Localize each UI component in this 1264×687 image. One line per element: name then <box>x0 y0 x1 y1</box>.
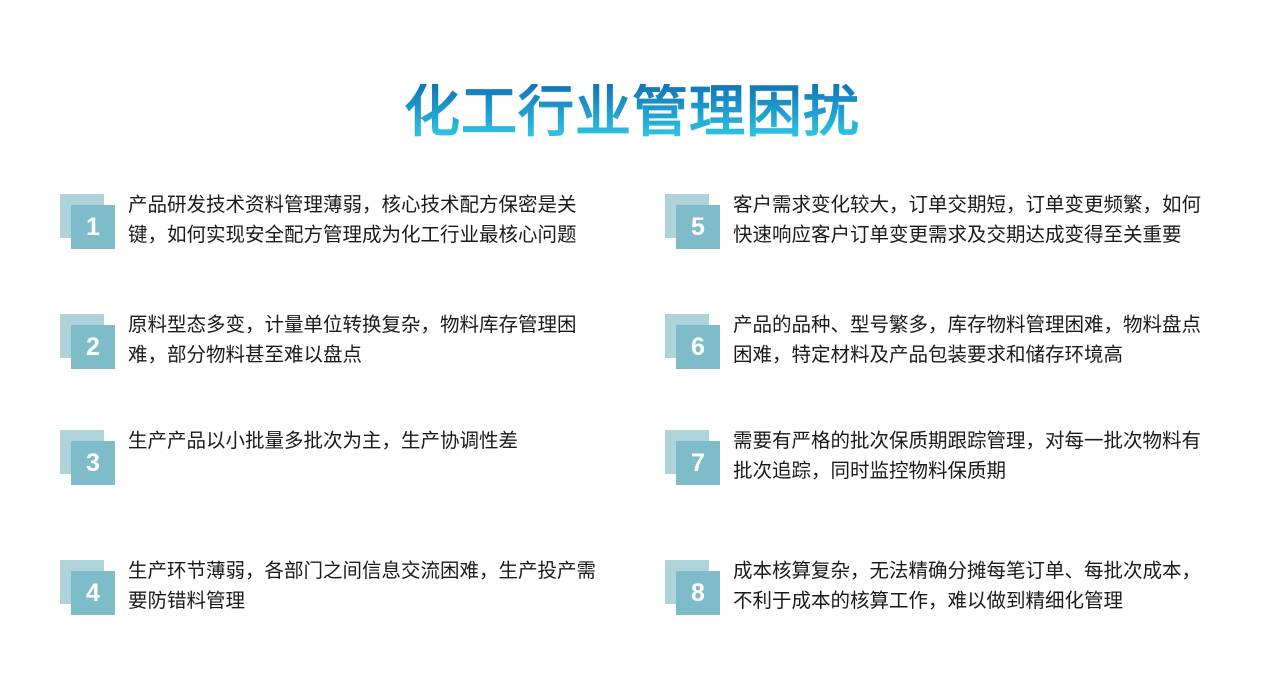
pain-points-grid: 1 产品研发技术资料管理薄弱，核心技术配方保密是关键，如何实现安全配方管理成为化… <box>0 186 1264 676</box>
badge-number: 8 <box>676 571 720 615</box>
badge-number: 3 <box>71 441 115 485</box>
pain-points-column-right: 5 客户需求变化较大，订单交期短，订单变更频繁，如何快速响应客户订单变更需求及交… <box>657 186 1217 676</box>
number-badge: 3 <box>60 430 116 486</box>
slide-canvas: 化工行业管理困扰 1 产品研发技术资料管理薄弱，核心技术配方保密是关键，如何实现… <box>0 0 1264 687</box>
list-item-text: 成本核算复杂，无法精确分摊每笔订单、每批次成本，不利于成本的核算工作，难以做到精… <box>733 556 1213 616</box>
list-item-text: 原料型态多变，计量单位转换复杂，物料库存管理困难，部分物料甚至难以盘点 <box>128 310 608 370</box>
number-badge: 5 <box>665 194 721 250</box>
number-badge: 2 <box>60 314 116 370</box>
list-item-text: 产品研发技术资料管理薄弱，核心技术配方保密是关键，如何实现安全配方管理成为化工行… <box>128 190 608 250</box>
number-badge: 7 <box>665 430 721 486</box>
badge-number: 6 <box>676 325 720 369</box>
number-badge: 8 <box>665 560 721 616</box>
badge-number: 5 <box>676 205 720 249</box>
badge-number: 4 <box>71 571 115 615</box>
badge-number: 2 <box>71 325 115 369</box>
number-badge: 6 <box>665 314 721 370</box>
list-item-text: 生产环节薄弱，各部门之间信息交流困难，生产投产需要防错料管理 <box>128 556 608 616</box>
badge-number: 7 <box>676 441 720 485</box>
list-item-text: 需要有严格的批次保质期跟踪管理，对每一批次物料有批次追踪，同时监控物料保质期 <box>733 426 1213 486</box>
slide-title-container: 化工行业管理困扰 <box>0 46 1264 177</box>
list-item-text: 产品的品种、型号繁多，库存物料管理困难，物料盘点困难，特定材料及产品包装要求和储… <box>733 310 1213 370</box>
number-badge: 1 <box>60 194 116 250</box>
page-title: 化工行业管理困扰 <box>404 84 860 140</box>
badge-number: 1 <box>71 205 115 249</box>
number-badge: 4 <box>60 560 116 616</box>
list-item-text: 生产产品以小批量多批次为主，生产协调性差 <box>128 426 608 456</box>
pain-points-column-left: 1 产品研发技术资料管理薄弱，核心技术配方保密是关键，如何实现安全配方管理成为化… <box>52 186 612 676</box>
list-item-text: 客户需求变化较大，订单交期短，订单变更频繁，如何快速响应客户订单变更需求及交期达… <box>733 190 1213 250</box>
